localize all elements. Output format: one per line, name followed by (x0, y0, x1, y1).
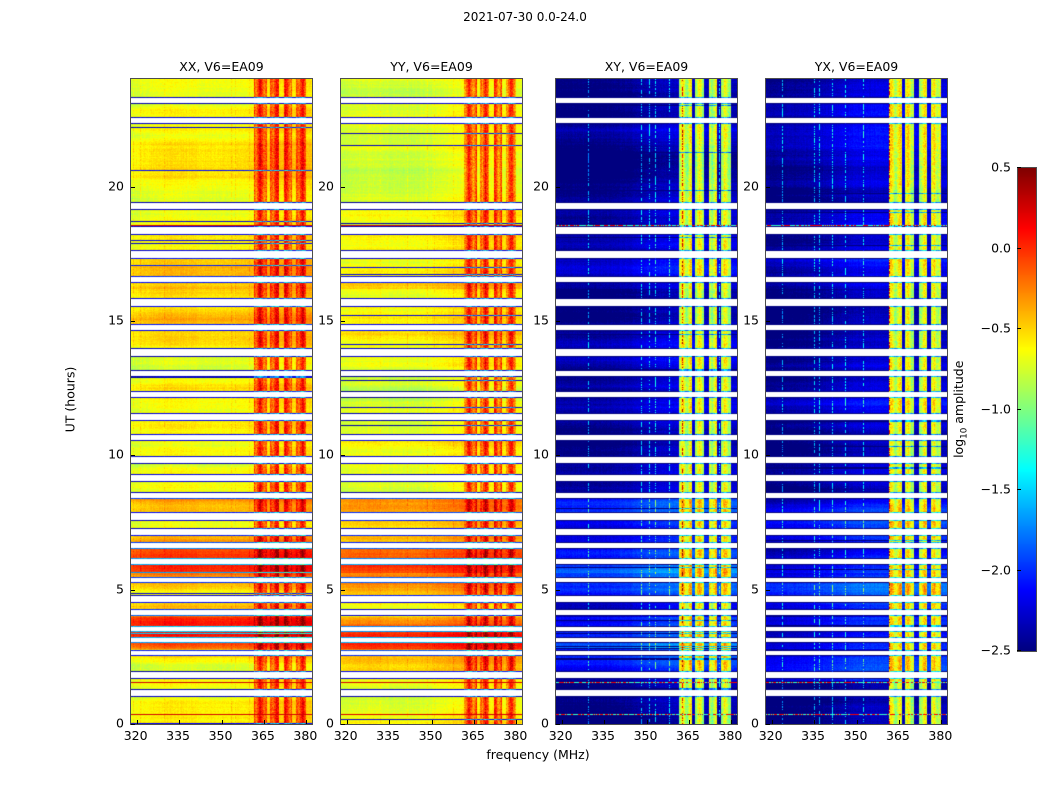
ytick-mark (766, 724, 770, 725)
ytick-mark (556, 187, 560, 188)
panel-title-xy: XY, V6=EA09 (556, 59, 737, 74)
ytick-label: 10 (308, 447, 334, 462)
ytick-label: 15 (733, 312, 759, 327)
xtick-mark (432, 720, 433, 724)
xtick-mark (347, 720, 348, 724)
xtick-mark (772, 720, 773, 724)
x-axis-label: frequency (MHz) (340, 747, 736, 762)
ytick-mark (556, 724, 560, 725)
colorbar-tick-label: −2.5 (969, 643, 1011, 658)
ytick-label: 0 (308, 716, 334, 731)
colorbar-tick-mark (1017, 409, 1021, 410)
spectrogram-image-xy (556, 79, 737, 724)
panel-title-yx: YX, V6=EA09 (766, 59, 947, 74)
xtick-label: 335 (166, 728, 190, 743)
ytick-mark (131, 724, 135, 725)
colorbar-tick-label: −0.5 (969, 321, 1011, 336)
xtick-mark (306, 720, 307, 724)
ytick-mark (131, 187, 135, 188)
ytick-label: 15 (523, 312, 549, 327)
figure-suptitle: 2021-07-30 0.0-24.0 (0, 10, 1050, 24)
ytick-mark (556, 590, 560, 591)
spectrogram-panel-xy[interactable]: XY, V6=EA09 (555, 78, 738, 725)
ytick-mark (341, 187, 345, 188)
xtick-mark (899, 720, 900, 724)
ytick-mark (766, 321, 770, 322)
ytick-label: 15 (98, 312, 124, 327)
colorbar-label-suffix: amplitude (951, 360, 966, 427)
ytick-mark (131, 321, 135, 322)
xtick-mark (647, 720, 648, 724)
xtick-mark (562, 720, 563, 724)
colorbar-tick-label: −2.0 (969, 562, 1011, 577)
spectrogram-image-yx (766, 79, 947, 724)
ytick-mark (341, 590, 345, 591)
xtick-label: 320 (759, 728, 783, 743)
colorbar-tick-label: −1.5 (969, 482, 1011, 497)
xtick-label: 335 (801, 728, 825, 743)
xtick-label: 320 (334, 728, 358, 743)
xtick-mark (389, 720, 390, 724)
xtick-mark (474, 720, 475, 724)
ytick-label: 0 (733, 716, 759, 731)
ytick-mark (556, 321, 560, 322)
xtick-label: 335 (376, 728, 400, 743)
ytick-label: 10 (98, 447, 124, 462)
spectrogram-image-yy (341, 79, 522, 724)
y-axis-label: UT (hours) (63, 319, 78, 479)
xtick-mark (814, 720, 815, 724)
ytick-label: 10 (733, 447, 759, 462)
ytick-label: 15 (308, 312, 334, 327)
colorbar-label-subscript: 10 (959, 427, 969, 438)
xtick-label: 320 (549, 728, 573, 743)
ytick-mark (341, 724, 345, 725)
spectrogram-image-xx (131, 79, 312, 724)
xtick-label: 350 (844, 728, 868, 743)
xtick-label: 320 (124, 728, 148, 743)
colorbar-label: log10 amplitude (951, 309, 970, 509)
xtick-mark (689, 720, 690, 724)
xtick-mark (941, 720, 942, 724)
colorbar-label-prefix: log (951, 438, 966, 457)
xtick-label: 350 (209, 728, 233, 743)
ytick-mark (766, 455, 770, 456)
colorbar-tick-mark (1017, 328, 1021, 329)
ytick-label: 0 (523, 716, 549, 731)
ytick-label: 5 (98, 581, 124, 596)
colorbar-tick-mark (1017, 650, 1021, 651)
colorbar-tick-mark (1017, 570, 1021, 571)
colorbar-tick-label: 0.0 (969, 240, 1011, 255)
xtick-mark (179, 720, 180, 724)
spectrogram-panel-xx[interactable]: XX, V6=EA09 (130, 78, 313, 725)
xtick-label: 365 (251, 728, 275, 743)
xtick-label: 365 (886, 728, 910, 743)
ytick-label: 20 (308, 178, 334, 193)
xtick-mark (857, 720, 858, 724)
spectrogram-panel-yy[interactable]: YY, V6=EA09 (340, 78, 523, 725)
xtick-label: 365 (676, 728, 700, 743)
xtick-label: 380 (928, 728, 952, 743)
ytick-mark (341, 321, 345, 322)
ytick-label: 5 (733, 581, 759, 596)
ytick-mark (556, 455, 560, 456)
colorbar-tick-label: 0.5 (969, 160, 1011, 175)
ytick-label: 10 (523, 447, 549, 462)
ytick-mark (766, 187, 770, 188)
ytick-mark (766, 590, 770, 591)
ytick-label: 20 (733, 178, 759, 193)
spectrogram-figure: 2021-07-30 0.0-24.0 32033535036538005101… (0, 0, 1050, 800)
ytick-label: 5 (308, 581, 334, 596)
xtick-label: 365 (461, 728, 485, 743)
ytick-label: 0 (98, 716, 124, 731)
xtick-mark (264, 720, 265, 724)
xtick-label: 350 (634, 728, 658, 743)
ytick-mark (131, 590, 135, 591)
xtick-mark (222, 720, 223, 724)
colorbar-tick-mark (1017, 167, 1021, 168)
colorbar-tick-mark (1017, 248, 1021, 249)
panel-title-yy: YY, V6=EA09 (341, 59, 522, 74)
xtick-mark (137, 720, 138, 724)
xtick-mark (516, 720, 517, 724)
ytick-mark (341, 455, 345, 456)
colorbar-tick-mark (1017, 489, 1021, 490)
ytick-label: 20 (523, 178, 549, 193)
ytick-label: 20 (98, 178, 124, 193)
ytick-label: 5 (523, 581, 549, 596)
colorbar-tick-label: −1.0 (969, 401, 1011, 416)
xtick-mark (604, 720, 605, 724)
xtick-label: 335 (591, 728, 615, 743)
ytick-mark (131, 455, 135, 456)
xtick-mark (731, 720, 732, 724)
xtick-label: 350 (419, 728, 443, 743)
panel-title-xx: XX, V6=EA09 (131, 59, 312, 74)
spectrogram-panel-yx[interactable]: YX, V6=EA09 (765, 78, 948, 725)
